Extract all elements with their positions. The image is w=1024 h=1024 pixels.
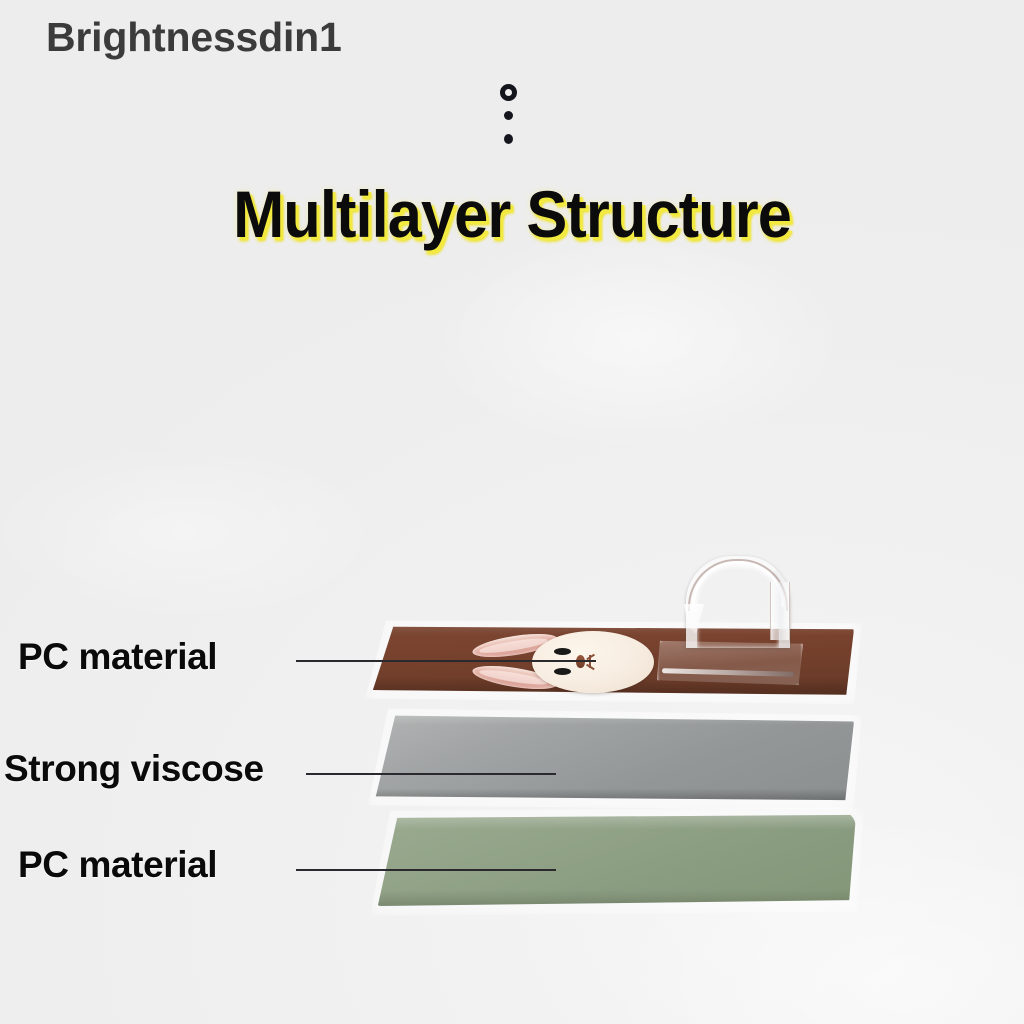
leader-line [306,773,556,775]
circle-outline-icon [500,84,517,101]
layer-edge-shading [370,708,854,804]
hook-arm-stem [770,582,790,640]
rabbit-whisker [586,664,594,670]
layer-top-pc-material [370,618,854,698]
page-title: Multilayer Structure [36,176,988,252]
seller-watermark: Brightnessdin1 [46,14,342,61]
callout-label: PC material [18,636,217,678]
callout-label: PC material [18,844,217,886]
rabbit-head-icon [532,631,654,693]
dot-icon [504,134,513,144]
callout-label: Strong viscose [4,748,264,790]
rabbit-face-graphic [470,630,650,694]
rabbit-eye-icon [554,648,571,655]
rabbit-whisker [586,654,594,660]
product-infographic: Brightnessdin1 Multilayer Structure [0,0,1024,1024]
layer-edge-shading [370,810,856,908]
dot-icon [504,111,513,120]
leader-line [296,869,556,871]
leader-line [296,660,596,662]
layer-bottom-pc-material [370,810,856,908]
layer-middle-strong-viscose [370,708,854,804]
rabbit-eye-icon [554,668,571,675]
transparent-hook-arm [686,556,790,648]
